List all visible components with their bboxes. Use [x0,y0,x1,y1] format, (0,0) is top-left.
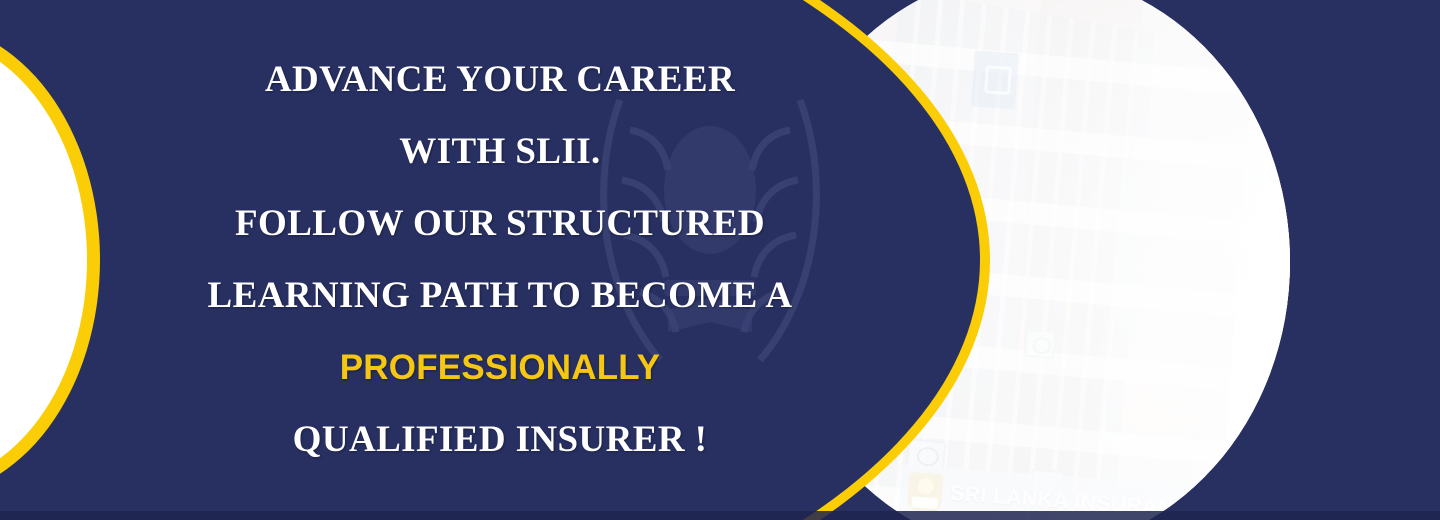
headline-line-6: QUALIFIED INSURER ! [293,404,708,476]
headline-line-2: WITH SLII. [399,116,600,188]
promo-banner: SRI LANKA INSURANCE LIFE INSURANCE [0,0,1440,520]
headline-line-1: ADVANCE YOUR CAREER [265,44,735,116]
headline-line-3: FOLLOW OUR STRUCTURED [235,188,765,260]
headline-block: ADVANCE YOUR CAREER WITH SLII. FOLLOW OU… [90,34,910,486]
bottom-edge-strip [0,511,1440,520]
headline-accent-line: PROFESSIONALLY [340,332,660,404]
headline-line-4: LEARNING PATH TO BECOME A [208,260,793,332]
